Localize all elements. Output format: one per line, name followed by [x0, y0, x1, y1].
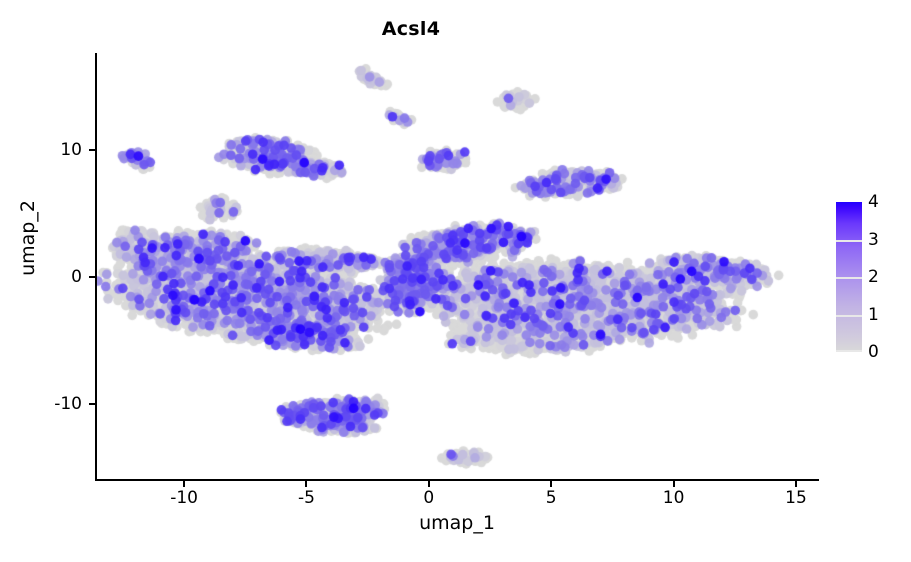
plot-area [96, 54, 818, 480]
x-tick-mark [305, 481, 307, 487]
x-axis-label: umap_1 [96, 512, 818, 534]
colorbar-tick-label: 2 [868, 267, 902, 287]
colorbar-tick-label: 3 [868, 230, 902, 250]
colorbar-tick-mark [836, 350, 862, 352]
x-tick-label: -5 [276, 488, 336, 508]
umap-feature-plot: Acsl4 -10-5051015100-10 umap_1 umap_2 43… [0, 0, 911, 562]
x-tick-mark [183, 481, 185, 487]
x-tick-label: -10 [154, 488, 214, 508]
x-tick-label: 10 [644, 488, 704, 508]
y-axis-label: umap_2 [17, 148, 39, 328]
y-tick-mark [89, 403, 95, 405]
colorbar-tick-label: 0 [868, 342, 902, 362]
x-tick-mark [428, 481, 430, 487]
scatter-points-layer [96, 54, 818, 480]
x-tick-mark [550, 481, 552, 487]
x-tick-label: 15 [766, 488, 826, 508]
colorbar-tick-mark [836, 277, 862, 279]
colorbar: 43210 [836, 200, 908, 356]
x-tick-mark [673, 481, 675, 487]
colorbar-tick-mark [836, 240, 862, 242]
page-title: Acsl4 [0, 18, 822, 40]
x-tick-mark [795, 481, 797, 487]
x-axis-spine [95, 479, 819, 481]
x-tick-label: 5 [521, 488, 581, 508]
x-tick-label: 0 [399, 488, 459, 508]
colorbar-tick-label: 4 [868, 192, 902, 212]
y-tick-mark [89, 149, 95, 151]
colorbar-tick-label: 1 [868, 305, 902, 325]
y-tick-label: -10 [14, 394, 82, 414]
colorbar-tick-mark [836, 315, 862, 317]
y-tick-mark [89, 276, 95, 278]
y-axis-spine [95, 53, 97, 481]
